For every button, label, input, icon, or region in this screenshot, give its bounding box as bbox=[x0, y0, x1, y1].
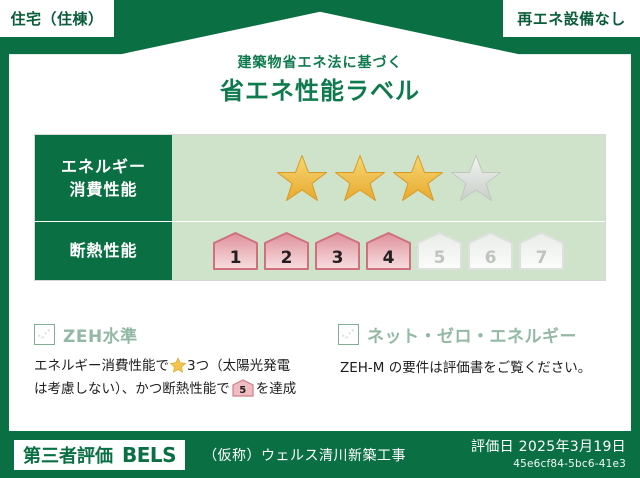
evaluation-id: 45e6cf84-5bc6-41e3 bbox=[471, 458, 626, 470]
energy-performance-label-cell: エネルギー 消費性能 bbox=[35, 135, 172, 221]
net-zero-criteria-block: ネット・ゼロ・エネルギー ZEH-M の要件は評価書をご覧ください。 bbox=[320, 322, 606, 401]
evaluation-date: 評価日 2025年3月19日 bbox=[471, 439, 626, 456]
rating-panel: エネルギー 消費性能 断熱性能 1234567 bbox=[34, 134, 606, 281]
net-zero-checkbox-dots-icon bbox=[339, 325, 358, 344]
insulation-level-number: 4 bbox=[365, 250, 412, 267]
label-footer: 第三者評価 BELS （仮称）ウェルス清川新築工事 評価日 2025年3月19日… bbox=[0, 431, 640, 478]
insulation-performance-row: 断熱性能 1234567 bbox=[35, 222, 605, 280]
star-empty-icon bbox=[451, 154, 501, 202]
energy-performance-label-line2: 消費性能 bbox=[69, 178, 137, 201]
label-title-block: 建築物省エネ法に基づく 省エネ性能ラベル bbox=[0, 55, 640, 106]
net-zero-checkbox-icon[interactable] bbox=[338, 324, 359, 345]
insulation-level-filled: 3 bbox=[314, 231, 361, 271]
insulation-level-empty: 5 bbox=[416, 231, 463, 271]
energy-performance-row: エネルギー 消費性能 bbox=[35, 135, 605, 222]
label-subtitle: 建築物省エネ法に基づく bbox=[0, 55, 640, 72]
insulation-level-number: 3 bbox=[314, 250, 361, 267]
insulation-level-filled: 2 bbox=[263, 231, 310, 271]
inline-house-badge-icon: 5 bbox=[232, 379, 254, 397]
zeh-criteria-text: エネルギー消費性能で3つ（太陽光発電は考慮しない）、かつ断熱性能で5を達成 bbox=[34, 355, 320, 401]
star-filled-icon bbox=[393, 154, 443, 202]
energy-star-rating bbox=[172, 135, 605, 221]
renewable-energy-tag-text: 再エネ設備なし bbox=[517, 8, 626, 29]
evaluation-meta: 評価日 2025年3月19日 45e6cf84-5bc6-41e3 bbox=[471, 439, 626, 471]
zeh-criteria-title: ZEH水準 bbox=[63, 322, 138, 347]
energy-performance-label-line1: エネルギー bbox=[61, 155, 146, 178]
insulation-level-number: 1 bbox=[212, 250, 259, 267]
zeh-criteria-header: ZEH水準 bbox=[34, 322, 320, 347]
zeh-text-part1: エネルギー消費性能で bbox=[34, 358, 169, 374]
insulation-level-number: 2 bbox=[263, 250, 310, 267]
zeh-checkbox-dots-icon bbox=[35, 325, 54, 344]
bels-logo-text: BELS bbox=[122, 443, 176, 467]
label-title: 省エネ性能ラベル bbox=[0, 77, 640, 106]
category-tag-left: 住宅（住棟） bbox=[0, 0, 114, 37]
net-zero-criteria-title: ネット・ゼロ・エネルギー bbox=[367, 322, 577, 347]
net-zero-criteria-header: ネット・ゼロ・エネルギー bbox=[338, 322, 606, 347]
insulation-performance-label-line1: 断熱性能 bbox=[69, 239, 137, 262]
category-tag-left-text: 住宅（住棟） bbox=[10, 8, 103, 29]
inline-star-icon bbox=[170, 357, 186, 373]
third-party-eval-label: 第三者評価 bbox=[23, 442, 113, 468]
zeh-text-part2: 3つ（太陽光発電 bbox=[187, 358, 290, 374]
building-name: （仮称）ウェルス清川新築工事 bbox=[203, 445, 406, 465]
star-filled-icon bbox=[277, 154, 327, 202]
insulation-level-number: 5 bbox=[416, 250, 463, 267]
insulation-level-filled: 4 bbox=[365, 231, 412, 271]
insulation-performance-label-cell: 断熱性能 bbox=[35, 222, 172, 280]
insulation-level-number: 6 bbox=[467, 250, 514, 267]
zeh-criteria-block: ZEH水準 エネルギー消費性能で3つ（太陽光発電は考慮しない）、かつ断熱性能で5… bbox=[34, 322, 320, 401]
insulation-level-empty: 7 bbox=[518, 231, 565, 271]
star-filled-icon bbox=[335, 154, 385, 202]
zeh-text-part3: は考慮しない）、かつ断熱性能で bbox=[34, 381, 230, 397]
renewable-energy-tag: 再エネ設備なし bbox=[503, 0, 640, 37]
insulation-level-number: 7 bbox=[518, 250, 565, 267]
criteria-section: ZEH水準 エネルギー消費性能で3つ（太陽光発電は考慮しない）、かつ断熱性能で5… bbox=[34, 322, 606, 401]
net-zero-criteria-text: ZEH-M の要件は評価書をご覧ください。 bbox=[338, 357, 606, 380]
zeh-text-part4: を達成 bbox=[256, 381, 297, 397]
insulation-level-scale: 1234567 bbox=[172, 222, 605, 280]
bels-badge: 第三者評価 BELS bbox=[14, 440, 185, 470]
inline-house-badge-number: 5 bbox=[232, 386, 254, 396]
insulation-level-empty: 6 bbox=[467, 231, 514, 271]
energy-performance-label: 住宅（住棟） 再エネ設備なし 建築物省エネ法に基づく 省エネ性能ラベル エネルギ… bbox=[0, 0, 640, 478]
insulation-level-filled: 1 bbox=[212, 231, 259, 271]
zeh-checkbox-icon[interactable] bbox=[34, 324, 55, 345]
